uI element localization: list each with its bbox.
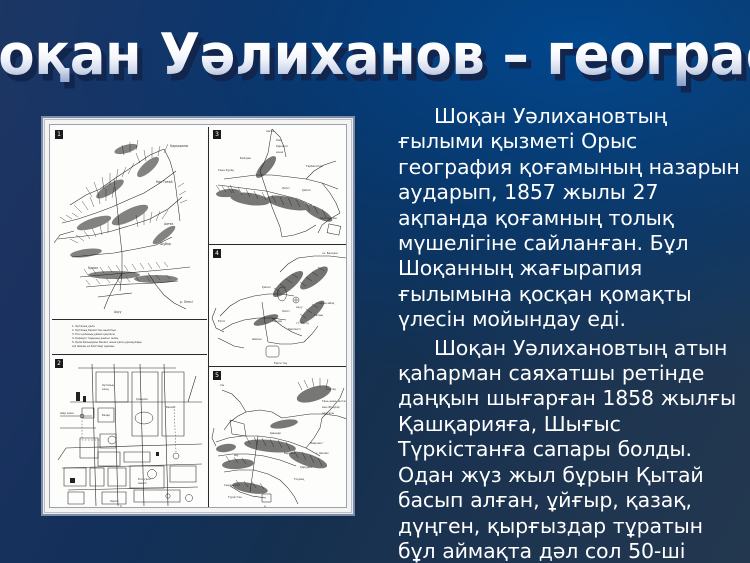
figure-scan-page: 1 [49, 124, 347, 508]
svg-text:Сарқан: Сарқан [272, 319, 282, 323]
map-panel-2: 2 [52, 356, 207, 508]
map-panel-1-drawing: Қарқаралы Көк Тоғай Аяғөз Шұбар р. Лепсі… [52, 127, 207, 319]
figure-panel[interactable]: 1 [44, 119, 352, 513]
map-panel-3-drawing: Аягөз Кіші Қарақол өзені Балқаш Ұзын бұл… [210, 127, 347, 244]
svg-text:Түркістан: Түркістан [227, 495, 242, 499]
svg-text:Ұзын бұлақ: Ұзын бұлақ [218, 168, 234, 172]
svg-text:Қарақол: Қарақол [276, 144, 288, 148]
paragraph-2: Шоқан Уәлихановтың атын қаһарман саяхатш… [398, 336, 742, 563]
map-panel-2-drawing: Орталық алаң Қазарма Бекініс Шар өзені Б… [52, 356, 207, 508]
svg-text:Көк Тоғай: Көк Тоғай [156, 180, 172, 184]
map-panel-4-label: 4 [213, 249, 221, 258]
map-panel-5-drawing: Іле Алатау Тянь-шань жоталары мен Жоңғар… [210, 368, 347, 508]
svg-text:Шаған: Шаған [252, 337, 262, 341]
svg-text:ст. Көксу: ст. Көксу [296, 321, 309, 325]
svg-text:алатауы: алатауы [322, 411, 334, 415]
map-panel-3: 3 [210, 127, 347, 244]
figure-row-divider-1 [208, 244, 347, 245]
figure-legend: 1. Орталық қала 2. Орталық бекіністен шы… [72, 325, 142, 348]
svg-text:Жаркент: Жаркент [310, 441, 323, 445]
svg-text:Тянь-шань жоталары: Тянь-шань жоталары [321, 399, 347, 403]
map-panel-1-label: 1 [55, 130, 63, 139]
svg-text:Қазарма: Қазарма [136, 397, 148, 401]
svg-text:Верный: Верный [284, 451, 295, 455]
map-panel-3-label: 3 [213, 130, 221, 139]
svg-text:Тоқмақ: Тоқмақ [293, 477, 305, 481]
svg-text:Шұбарағаш: Шұбарағаш [320, 216, 337, 220]
svg-text:Қапал: Қапал [302, 188, 311, 192]
panel1-legend-bottom-rule [52, 354, 207, 355]
svg-text:с. Ақши-абақ: с. Ақши-абақ [316, 301, 335, 305]
svg-text:Балқаш: Балқаш [240, 156, 251, 160]
svg-text:Қарқара: Қарқара [300, 465, 312, 469]
svg-text:Ақсу: Ақсу [114, 310, 122, 314]
svg-text:мешіті: мешіті [138, 481, 147, 485]
title-area: Шоқан Уәлиханов – географ. Шоқан Уәлихан… [0, 6, 750, 104]
svg-text:Ертіс: Ертіс [218, 319, 226, 323]
svg-text:Қашқар: Қашқар [270, 431, 281, 435]
svg-text:Тарбағатай: Тарбағатай [305, 164, 323, 168]
svg-text:Алатау: Алатау [326, 387, 336, 391]
paragraph-1: Шоқан Уәлихановтың ғылыми қызметі Орыс г… [398, 104, 742, 333]
body-text-column: Шоқан Уәлихановтың ғылыми қызметі Орыс г… [398, 104, 742, 563]
svg-text:алаң: алаң [102, 388, 109, 391]
svg-text:Еркін тау: Еркін тау [274, 361, 288, 365]
svg-text:с. Шелек: с. Шелек [316, 451, 329, 455]
map-panel-5: 5 [210, 368, 347, 508]
svg-text:оз. Балқаш: оз. Балқаш [322, 251, 338, 255]
svg-text:0: 0 [120, 504, 122, 508]
svg-text:Қарқаралы: Қарқаралы [170, 144, 189, 148]
svg-text:р. Лепсі: р. Лепсі [180, 300, 193, 304]
svg-text:Лепсі: Лепсі [282, 309, 290, 313]
svg-text:мен Жоңғар: мен Жоңғар [322, 405, 340, 409]
slide-canvas: Шоқан Уәлиханов – географ. Шоқан Уәлихан… [0, 0, 750, 563]
map-panel-4: 4 [210, 246, 347, 366]
slide-title: Шоқан Уәлиханов – географ. Шоқан Уәлихан… [0, 27, 750, 84]
svg-text:Талды: Талды [313, 313, 323, 317]
svg-text:Ақсу: Ақсу [296, 305, 303, 309]
svg-text:Іле: Іле [220, 383, 225, 387]
legend-line: 5. Қала басындағы бекініс және қала қорш… [72, 341, 142, 345]
svg-text:Сырдария: Сырдария [224, 483, 239, 487]
figure-column-divider [208, 127, 209, 508]
svg-text:Аяғөз: Аяғөз [164, 222, 174, 226]
svg-text:Шу: Шу [234, 453, 239, 457]
svg-text:Бекініс: Бекініс [166, 405, 176, 409]
svg-text:Лепсі: Лепсі [282, 186, 290, 190]
svg-text:а: а [264, 504, 266, 508]
map-panel-2-label: 2 [55, 359, 63, 368]
svg-text:Орталық: Орталық [102, 383, 114, 387]
svg-text:Базар: Базар [102, 413, 110, 417]
figure-row-divider-2 [208, 366, 347, 367]
map-panel-1: 1 [52, 127, 207, 319]
svg-text:Кіші: Кіші [276, 138, 282, 142]
legend-line: а-б Шокан өз белгілеуі аумағы [72, 345, 142, 349]
svg-text:Аягөз: Аягөз [266, 129, 275, 133]
svg-text:өзені: өзені [276, 150, 283, 154]
svg-text:Шар өзені: Шар өзені [60, 411, 74, 415]
svg-text:Қапал: Қапал [262, 285, 271, 289]
svg-text:Шұбар: Шұбар [160, 242, 171, 246]
map-panel-5-label: 5 [213, 371, 221, 380]
slide-title-face: Шоқан Уәлиханов – географ. [0, 22, 750, 88]
svg-text:Ескі қала: Ескі қала [138, 477, 151, 481]
map-panel-4-drawing: оз. Балқаш с. Ақши-абақ Талды Қапал Лепс… [210, 246, 347, 366]
svg-text:Көкпекті: Көкпекті [288, 327, 301, 331]
panel1-legend-top-rule [52, 319, 207, 320]
svg-text:Қапал: Қапал [88, 266, 98, 270]
svg-text:Зират: Зират [110, 499, 119, 503]
